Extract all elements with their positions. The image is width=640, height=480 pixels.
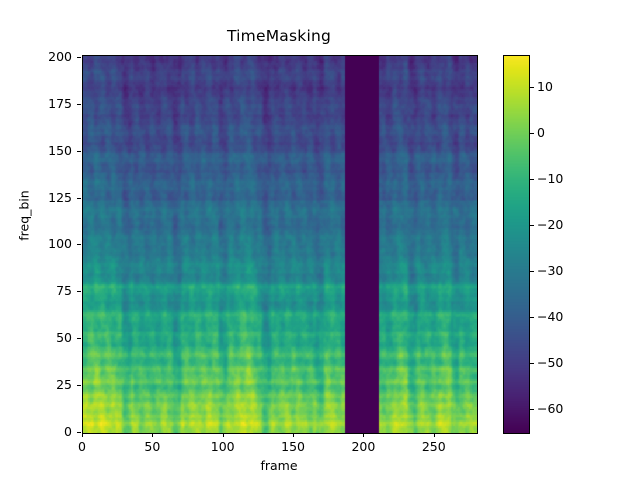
colorbar-tick [530, 179, 534, 180]
colorbar [503, 55, 530, 434]
colorbar-tick [530, 317, 534, 318]
y-tick-label: 125 [26, 190, 72, 205]
y-tick [77, 291, 81, 292]
matplotlib-figure: TimeMasking 050100150200250 025507510012… [0, 0, 640, 480]
spectrogram-axes [82, 55, 478, 434]
colorbar-tick-label: −40 [537, 309, 563, 324]
x-tick [434, 433, 435, 437]
y-tick-label: 150 [26, 143, 72, 158]
y-axis-label: freq_bin [17, 166, 32, 266]
colorbar-gradient [504, 56, 529, 433]
colorbar-tick-label: 10 [537, 79, 553, 94]
y-tick-label: 50 [26, 330, 72, 345]
x-tick-label: 100 [193, 439, 253, 454]
x-tick-label: 150 [263, 439, 323, 454]
colorbar-tick-label: −20 [537, 217, 563, 232]
colorbar-tick [530, 87, 534, 88]
x-axis-label: frame [82, 458, 476, 473]
y-tick [77, 57, 81, 58]
x-tick [152, 433, 153, 437]
colorbar-tick [530, 133, 534, 134]
x-tick-label: 0 [52, 439, 112, 454]
colorbar-tick-label: −50 [537, 355, 563, 370]
chart-title: TimeMasking [82, 27, 476, 45]
x-tick [293, 433, 294, 437]
x-tick-label: 50 [122, 439, 182, 454]
y-tick-label: 175 [26, 96, 72, 111]
y-tick-label: 100 [26, 236, 72, 251]
x-tick [223, 433, 224, 437]
y-tick [77, 104, 81, 105]
colorbar-tick-label: −10 [537, 171, 563, 186]
y-tick-label: 200 [26, 49, 72, 64]
spectrogram-image [83, 56, 477, 433]
y-tick [77, 432, 81, 433]
y-tick-label: 75 [26, 283, 72, 298]
y-tick-label: 0 [26, 424, 72, 439]
y-tick [77, 151, 81, 152]
x-tick-label: 250 [404, 439, 464, 454]
y-tick [77, 244, 81, 245]
x-tick [363, 433, 364, 437]
colorbar-tick [530, 363, 534, 364]
x-tick [82, 433, 83, 437]
colorbar-tick-label: −30 [537, 263, 563, 278]
y-tick-label: 25 [26, 377, 72, 392]
x-tick-label: 200 [333, 439, 393, 454]
colorbar-tick [530, 409, 534, 410]
y-tick [77, 385, 81, 386]
y-tick [77, 338, 81, 339]
colorbar-tick-label: 0 [537, 125, 545, 140]
colorbar-tick [530, 225, 534, 226]
y-tick [77, 198, 81, 199]
colorbar-tick [530, 271, 534, 272]
colorbar-tick-label: −60 [537, 401, 563, 416]
